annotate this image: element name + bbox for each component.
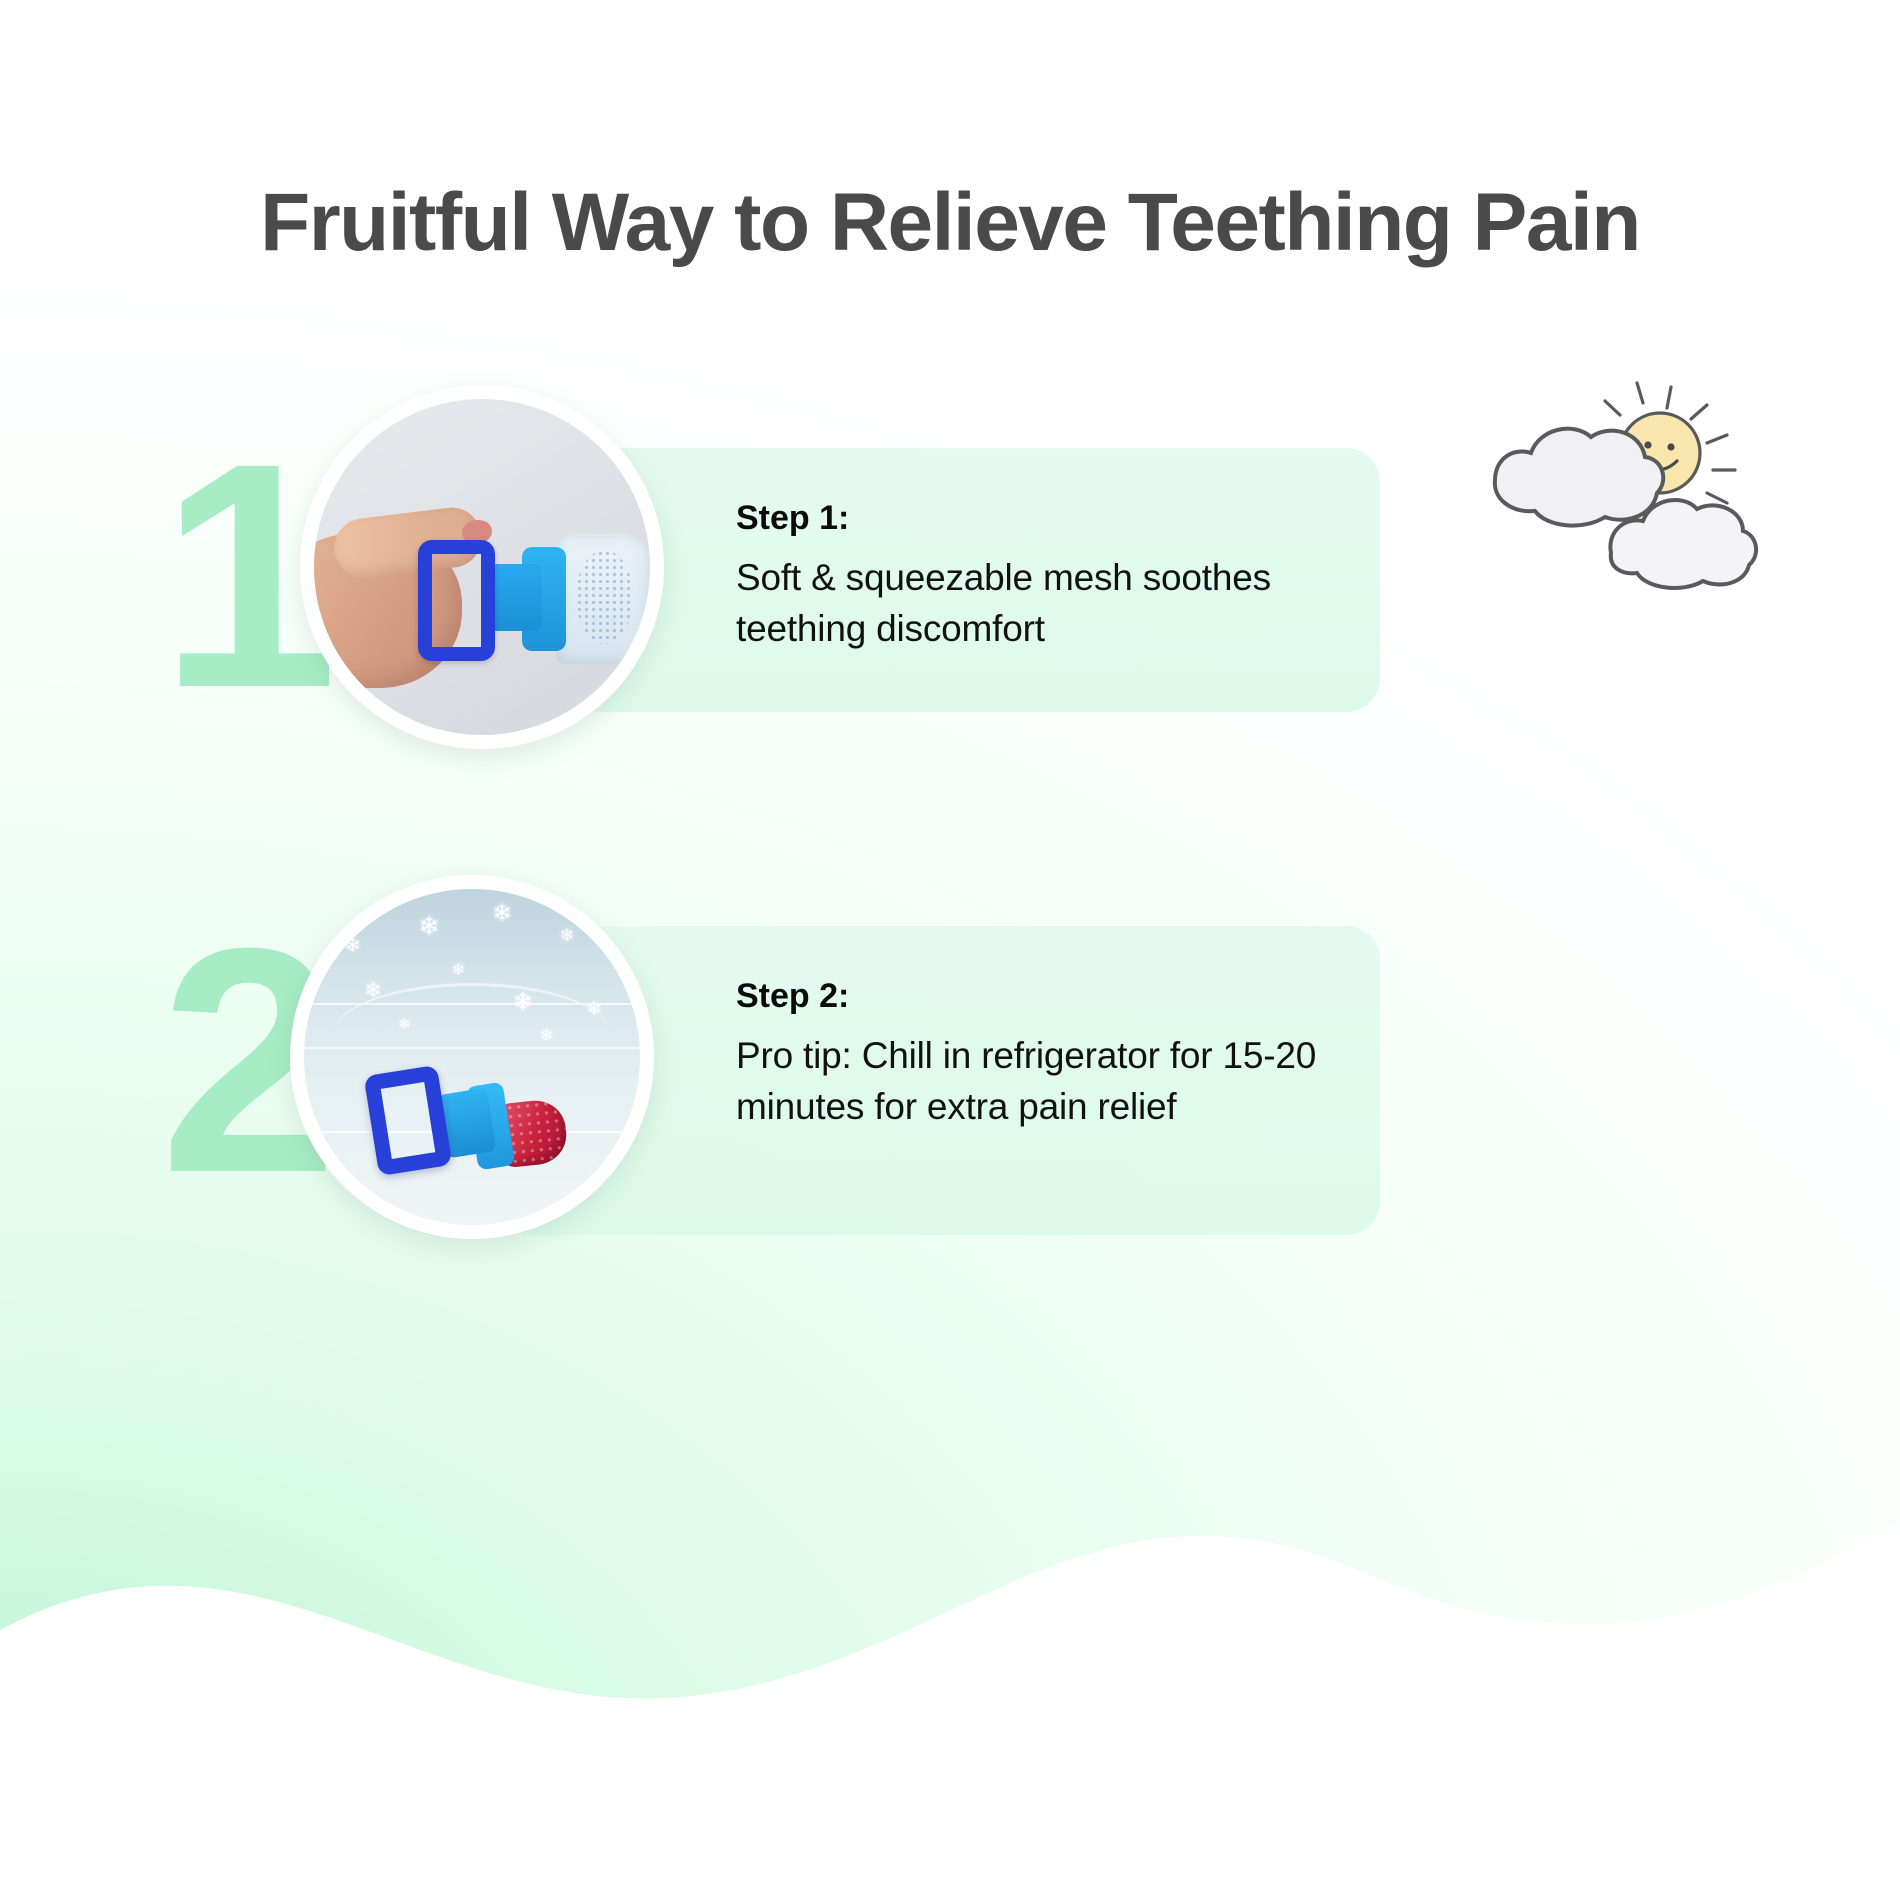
bottom-wave-decoration <box>0 1480 1900 1900</box>
step-1-label: Step 1: <box>736 499 1334 538</box>
step-2-body: Pro tip: Chill in refrigerator for 15-20… <box>736 1030 1334 1132</box>
step-1-photo <box>300 385 664 749</box>
snowflake-icon: ❄ <box>559 926 574 944</box>
snowflake-icon: ❄ <box>512 990 533 1015</box>
step-2-label: Step 2: <box>736 977 1334 1016</box>
feeder-handle-ring <box>418 540 495 661</box>
snowflake-icon: ❄ <box>344 936 361 956</box>
feeder-handle-ring <box>364 1065 453 1176</box>
snowflake-icon: ❄ <box>364 980 382 1001</box>
feeder-mesh-texture <box>576 550 633 644</box>
photo-feeder-in-freezer: ❄ ❄ ❄ ❄ ❄ ❄ ❄ ❄ ❄ ❄ <box>304 889 640 1225</box>
snowflake-icon: ❄ <box>398 1017 411 1032</box>
snowflake-icon: ❄ <box>586 1000 602 1019</box>
snowflake-icon: ❄ <box>539 1027 553 1044</box>
step-2-block: 2 Step 2: Pro tip: Chill in refrigerator… <box>0 870 1900 1270</box>
step-2-photo: ❄ ❄ ❄ ❄ ❄ ❄ ❄ ❄ ❄ ❄ <box>290 875 654 1239</box>
snowflake-icon: ❄ <box>452 963 465 979</box>
page-title: Fruitful Way to Relieve Teething Pain <box>0 176 1900 270</box>
feeder-neck <box>489 564 543 631</box>
step-1-block: 1 Step 1: Soft & squeezable mesh soothes… <box>0 385 1900 785</box>
step-1-body: Soft & squeezable mesh soothes teething … <box>736 552 1334 654</box>
snowflake-icon: ❄ <box>492 902 512 926</box>
snowflake-icon: ❄ <box>418 913 440 939</box>
photo-hand-holding-fruit-feeder <box>314 399 650 735</box>
freezer-shelf-line <box>304 1047 640 1049</box>
